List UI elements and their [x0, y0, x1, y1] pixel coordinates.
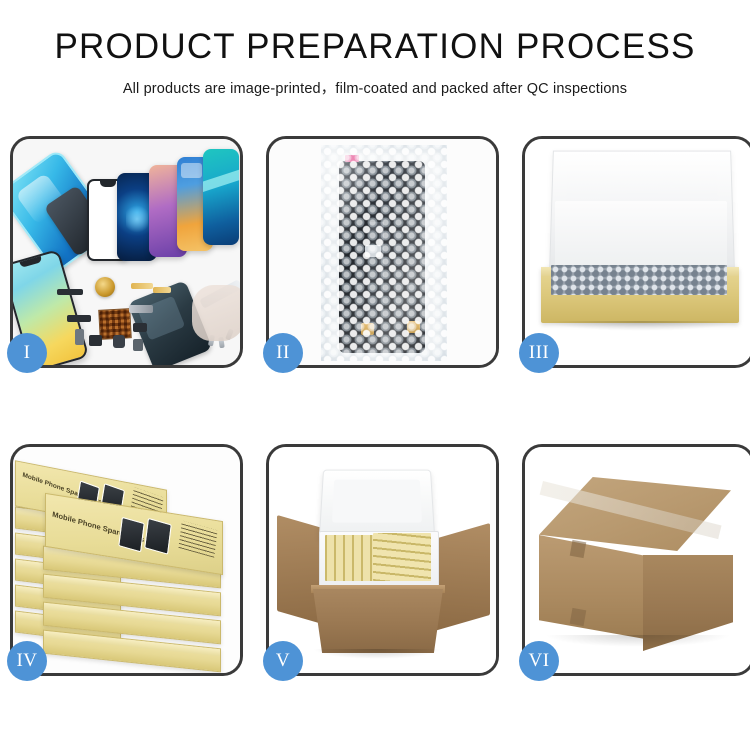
- step-image-single-box-packing: [525, 139, 750, 365]
- component-chip-icon: [113, 335, 125, 348]
- component-chip-icon: [75, 329, 84, 345]
- step-panel-3: III: [522, 136, 750, 368]
- flex-cable-icon: [131, 283, 153, 289]
- carton-front-icon: [313, 589, 443, 653]
- carton-seam: [570, 540, 587, 558]
- phone-screen-print-icon: [118, 517, 144, 553]
- packed-boxes-icon: [373, 533, 431, 581]
- process-steps-grid: I II III: [10, 136, 740, 676]
- drop-shadow: [313, 649, 441, 659]
- step-panel-5: V: [266, 444, 499, 676]
- component-chip-icon: [133, 323, 147, 332]
- step-panel-4: Mobile Phone Spare Parts Mobile Phone Sp…: [10, 444, 243, 676]
- drop-shadow: [545, 635, 731, 647]
- bubble-wrap-bag-icon: [321, 145, 447, 361]
- page-subtitle: All products are image-printed，film-coat…: [0, 77, 750, 98]
- step-badge-4: IV: [7, 641, 47, 681]
- step-badge-2: II: [263, 333, 303, 373]
- step-image-sealed-carton: [525, 447, 750, 673]
- carton-seam: [570, 608, 587, 626]
- foam-lid-icon: [319, 470, 435, 539]
- flex-cable-icon: [153, 287, 171, 293]
- page-title: PRODUCT PREPARATION PROCESS: [0, 26, 750, 68]
- step-image-bubble-wrapped-screen: [269, 139, 496, 365]
- step-badge-6: VI: [519, 641, 559, 681]
- component-chip-icon: [129, 305, 153, 313]
- step-badge-1: I: [7, 333, 47, 373]
- copper-coil-icon: [95, 277, 115, 297]
- carton-flap-right-icon: [434, 523, 490, 631]
- step-image-carton-with-foam: [269, 447, 496, 673]
- plastic-sheen: [321, 145, 447, 361]
- component-chip-icon: [89, 335, 102, 346]
- component-chip-icon: [67, 315, 91, 322]
- step-badge-5: V: [263, 641, 303, 681]
- bubble-wrapped-contents-icon: [551, 265, 727, 295]
- component-chip-icon: [57, 289, 83, 295]
- foam-sheet-icon: [555, 201, 727, 267]
- step-image-stacked-retail-boxes: Mobile Phone Spare Parts Mobile Phone Sp…: [13, 447, 240, 673]
- step-image-parts-and-screens: [13, 139, 240, 365]
- step-panel-6: VI: [522, 444, 750, 676]
- carton-left-face-icon: [539, 535, 645, 639]
- phone-screen-print-icon: [144, 518, 172, 555]
- page-header: PRODUCT PREPARATION PROCESS All products…: [0, 0, 750, 98]
- step-badge-3: III: [519, 333, 559, 373]
- hand-icon: [192, 285, 240, 341]
- box-spec-lines: [178, 520, 217, 557]
- step-panel-2: II: [266, 136, 499, 368]
- step-panel-1: I: [10, 136, 243, 368]
- phone-display-4-icon: [203, 149, 239, 245]
- drop-shadow: [545, 321, 737, 331]
- component-chip-icon: [133, 339, 143, 351]
